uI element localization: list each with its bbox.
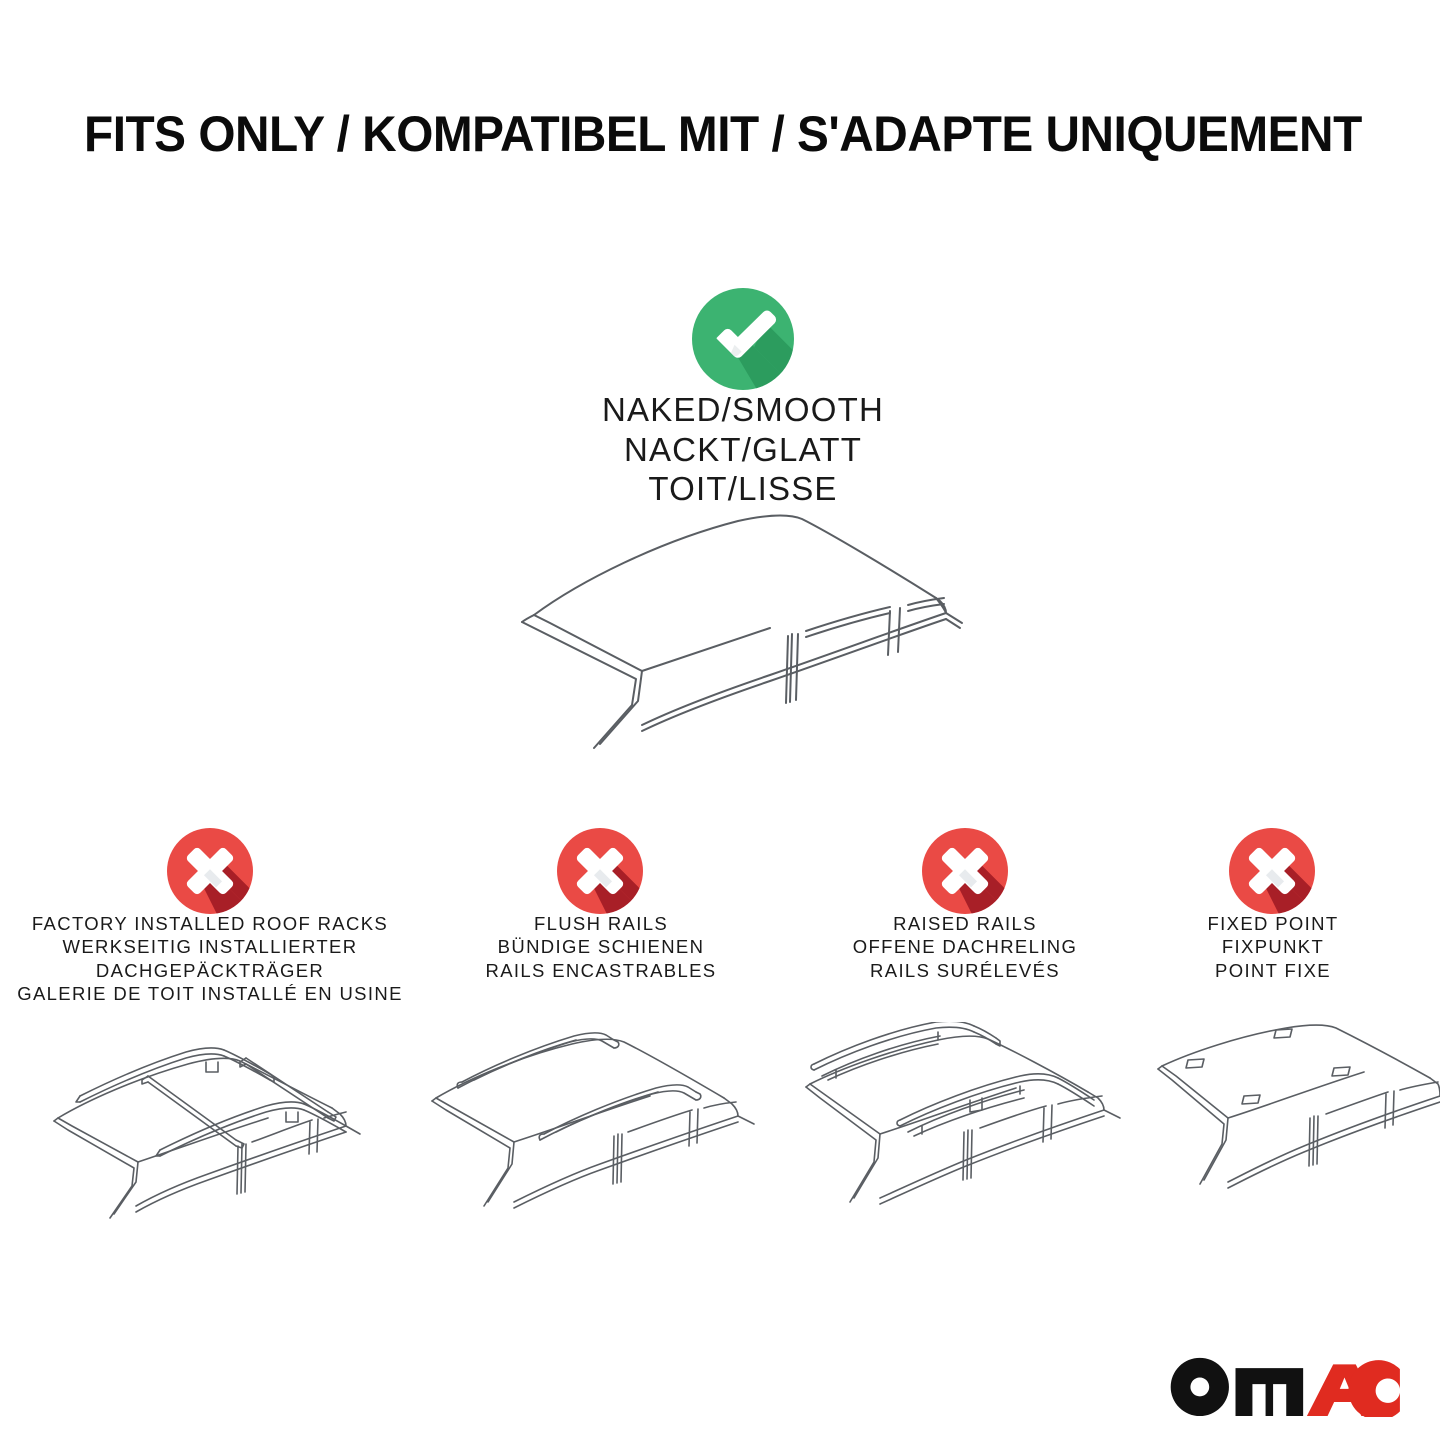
incompatible-1-label-de-2: DACHGEPÄCKTRÄGER — [10, 959, 410, 982]
compatible-label-en: NAKED/SMOOTH — [483, 390, 1003, 430]
check-circle-icon — [692, 288, 794, 390]
incompatible-4-label-fr: POINT FIXE — [1140, 959, 1406, 982]
fitment-compatibility-infographic: FITS ONLY / KOMPATIBEL MIT / S'ADAPTE UN… — [0, 0, 1445, 1445]
incompatible-3-label-fr: RAILS SURÉLEVÉS — [790, 959, 1140, 982]
incompatible-1-label-en: FACTORY INSTALLED ROOF RACKS — [10, 912, 410, 935]
incompatible-2-label-de: BÜNDIGE SCHIENEN — [420, 935, 782, 958]
incompatible-2-label-en: FLUSH RAILS — [420, 912, 782, 935]
incompatible-label-group-1: FACTORY INSTALLED ROOF RACKS WERKSEITIG … — [10, 912, 410, 1006]
incompatible-1-label-fr: GALERIE DE TOIT INSTALLÉ EN USINE — [10, 982, 410, 1005]
page-title: FITS ONLY / KOMPATIBEL MIT / S'ADAPTE UN… — [84, 108, 1316, 161]
compatible-label-group: NAKED/SMOOTH NACKT/GLATT TOIT/LISSE — [483, 390, 1003, 509]
fixed-point-illustration — [1148, 1022, 1440, 1224]
incompatible-2-label-fr: RAILS ENCASTRABLES — [420, 959, 782, 982]
omac-logo — [1166, 1355, 1401, 1417]
incompatible-4-label-de: FIXPUNKT — [1140, 935, 1406, 958]
naked-smooth-roof-illustration — [470, 495, 990, 750]
factory-roof-rack-illustration — [28, 1022, 400, 1224]
raised-rails-illustration — [788, 1022, 1160, 1224]
x-circle-icon — [922, 828, 1008, 914]
compatible-label-de: NACKT/GLATT — [483, 430, 1003, 470]
x-circle-icon — [1229, 828, 1315, 914]
flush-rails-illustration — [418, 1022, 790, 1224]
incompatible-label-group-3: RAISED RAILS OFFENE DACHRELING RAILS SUR… — [790, 912, 1140, 982]
incompatible-label-group-4: FIXED POINT FIXPUNKT POINT FIXE — [1140, 912, 1406, 982]
incompatible-label-group-2: FLUSH RAILS BÜNDIGE SCHIENEN RAILS ENCAS… — [420, 912, 782, 982]
x-circle-icon — [167, 828, 253, 914]
incompatible-3-label-en: RAISED RAILS — [790, 912, 1140, 935]
incompatible-4-label-en: FIXED POINT — [1140, 912, 1406, 935]
incompatible-1-label-de-1: WERKSEITIG INSTALLIERTER — [10, 935, 410, 958]
incompatible-3-label-de: OFFENE DACHRELING — [790, 935, 1140, 958]
x-circle-icon — [557, 828, 643, 914]
